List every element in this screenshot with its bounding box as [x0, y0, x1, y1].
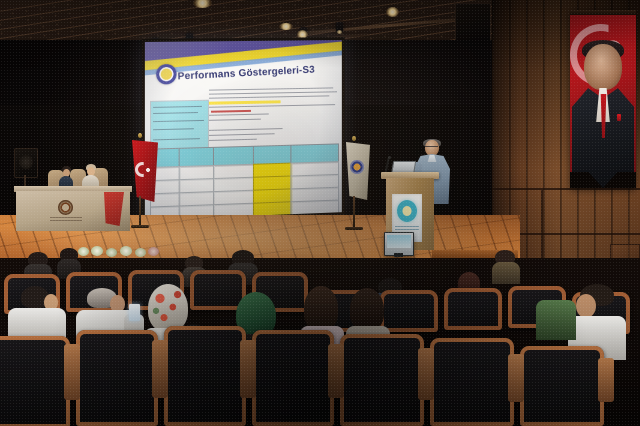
projected-slide: Performans Göstergeleri-S3 — [145, 40, 342, 220]
auditorium-seat[interactable] — [252, 330, 334, 426]
seat-trim — [76, 330, 158, 426]
flower — [91, 246, 103, 256]
seat-trim — [164, 326, 246, 426]
auditorium-seat[interactable] — [0, 336, 70, 426]
stage-monitor-speaker — [14, 148, 38, 178]
seat-trim — [0, 336, 70, 426]
stage-light — [336, 22, 343, 32]
seat-armrest — [152, 340, 168, 398]
projection-screen: Performans Göstergeleri-S3 — [142, 37, 345, 223]
auditorium-photo: Performans Göstergeleri-S3 — [0, 0, 640, 426]
attendee-hair — [350, 288, 384, 330]
slide-body — [150, 87, 338, 215]
slide-text-line — [209, 91, 337, 94]
speaker-cone — [19, 155, 33, 169]
seat-armrest — [418, 348, 434, 400]
slide-text-line — [209, 139, 257, 141]
seat-armrest — [64, 344, 80, 400]
recessed-light — [279, 23, 293, 30]
attendee-torso — [536, 300, 576, 340]
attendee-hair — [304, 286, 338, 330]
auditorium-seat[interactable] — [444, 288, 502, 330]
flower — [120, 246, 132, 256]
seat-armrest — [598, 358, 614, 402]
seat-trim — [444, 288, 502, 330]
phone-screen — [129, 304, 140, 321]
institution-logo — [58, 200, 73, 215]
seat-trim — [340, 334, 424, 426]
flag-base — [131, 225, 149, 228]
flower — [148, 247, 159, 256]
auditorium-seat[interactable] — [340, 334, 424, 426]
seat-trim — [520, 346, 604, 426]
attendee-torso — [492, 262, 520, 284]
institution-emblem-icon — [350, 160, 364, 174]
institution-flag — [346, 142, 370, 200]
slide-text-line — [209, 87, 333, 90]
seat-trim — [430, 338, 514, 426]
flower-arrangements — [78, 244, 160, 258]
slide-red-text — [211, 110, 251, 112]
flag-finial — [138, 133, 142, 138]
seat-trim — [380, 290, 438, 332]
seat-armrest — [508, 354, 524, 402]
slide-text-line — [209, 104, 335, 108]
slide-text-line — [209, 133, 275, 136]
slide-text-line — [209, 128, 283, 131]
attendee-head — [576, 294, 596, 318]
monitor-stand — [394, 253, 403, 257]
auditorium-seat[interactable] — [76, 330, 158, 426]
university-emblem-icon — [156, 64, 176, 85]
institution-logo-text — [50, 217, 82, 222]
auditorium-seat[interactable] — [430, 338, 514, 426]
seat-armrest — [240, 340, 256, 398]
flower — [78, 247, 89, 256]
wall-seam — [492, 188, 640, 190]
slide-text-block — [150, 100, 209, 154]
stage-light-glow — [386, 7, 399, 17]
presidential-portrait-banner — [570, 10, 636, 188]
auditorium-seat[interactable] — [520, 346, 604, 426]
flower — [106, 248, 117, 257]
seat-trim — [252, 330, 334, 426]
flag-base — [345, 227, 363, 230]
flower — [135, 248, 146, 257]
slide-text-line — [209, 113, 269, 115]
star-icon — [145, 167, 151, 173]
institution-emblem-icon — [397, 200, 417, 222]
slide-text-line — [209, 95, 329, 98]
portrait-face — [584, 44, 622, 90]
auditorium-seat[interactable] — [380, 290, 438, 332]
flag-pole — [139, 196, 141, 226]
floral-headscarf — [148, 284, 188, 332]
auditorium-seat[interactable] — [164, 326, 246, 426]
flag-finial — [352, 136, 356, 141]
slide-text-line — [209, 119, 261, 121]
glasses-icon — [425, 146, 438, 150]
flag-pole — [353, 196, 355, 228]
slide-highlight-marker — [209, 100, 281, 104]
seat-armrest — [328, 344, 344, 398]
portrait-flag-pin — [617, 114, 621, 121]
hanging-speaker — [455, 3, 491, 45]
microphone-head — [388, 156, 391, 159]
